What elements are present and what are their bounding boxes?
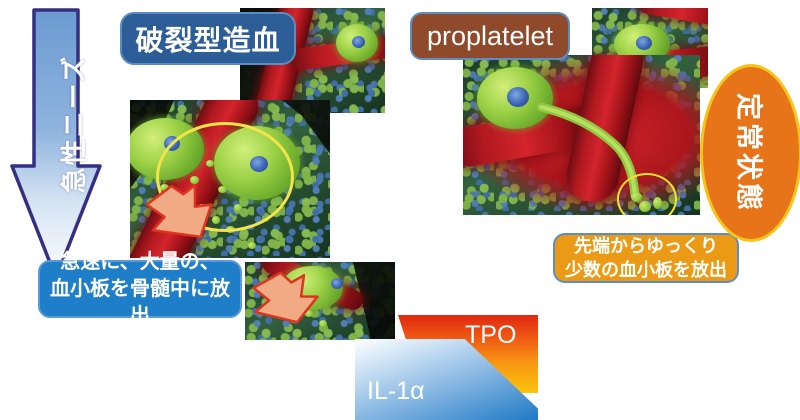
cytokine-gradient-block: TPO IL-1α <box>355 315 538 420</box>
acute-need-arrow: 急性ニーズ <box>8 6 104 282</box>
callout-steady-line1: 先端からゆっくり <box>565 234 727 258</box>
acute-need-arrow-label: 急性ニーズ <box>56 9 92 239</box>
release-arrow-left <box>130 100 330 258</box>
il1a-label: IL-1α <box>367 377 425 406</box>
label-proplatelet[interactable]: proplatelet <box>410 12 570 60</box>
callout-steady-release[interactable]: 先端からゆっくり 少数の血小板を放出 <box>553 233 739 283</box>
micrograph-right-main <box>463 55 700 215</box>
callout-acute-line1: 急速に、大量の、 <box>46 249 234 276</box>
callout-steady-line2: 少数の血小板を放出 <box>565 258 727 282</box>
micrograph-left-middle <box>130 100 330 258</box>
label-rupture-type-hematopoiesis[interactable]: 破裂型造血 <box>120 12 296 65</box>
megakaryocyte-nucleus <box>352 36 365 48</box>
figure-canvas: 急性ニーズ 破裂型造血 proplatelet 急速に、大量の、 血小板を骨髄中… <box>0 0 800 420</box>
megakaryocyte-nucleus <box>636 36 652 50</box>
tpo-label: TPO <box>465 321 516 350</box>
callout-acute-release[interactable]: 急速に、大量の、 血小板を骨髄中に放出 <box>38 260 242 318</box>
ellipse-steady-state-label: 定常状態 <box>732 93 771 213</box>
ellipse-steady-state[interactable]: 定常状態 <box>700 64 800 242</box>
callout-acute-line2: 血小板を骨髄中に放出 <box>46 276 234 330</box>
